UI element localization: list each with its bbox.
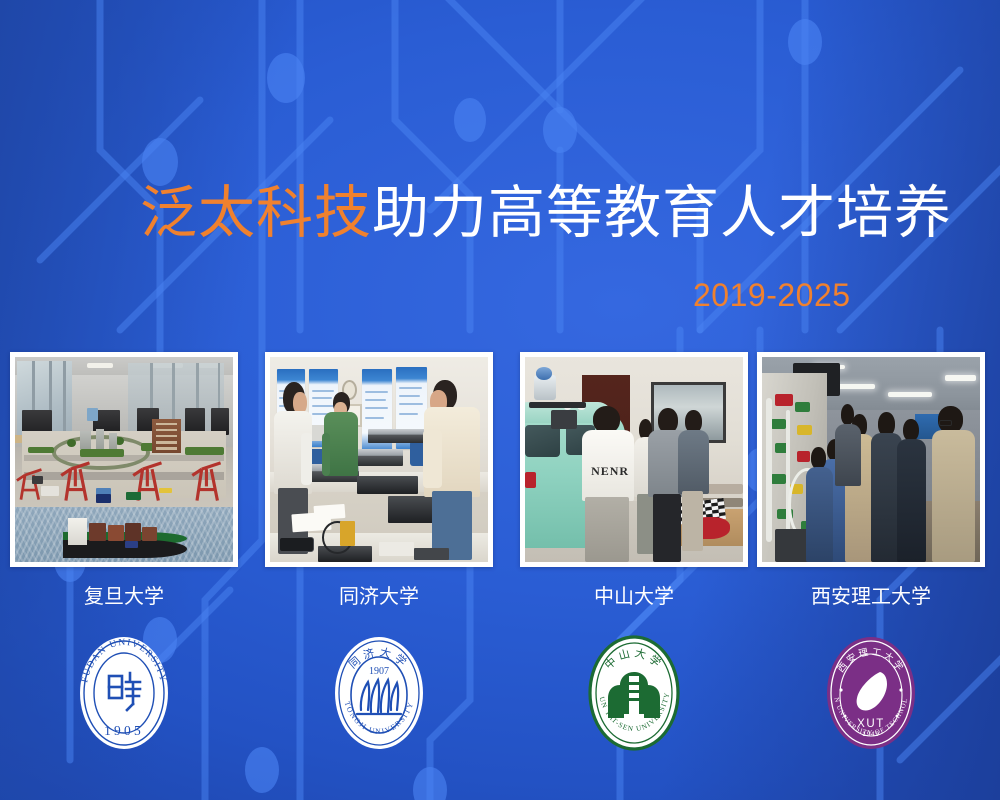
university-photo-row: NENR	[0, 352, 1000, 567]
photo-fudan-city-port-model-lab	[15, 357, 233, 562]
brand-name: 泛太科技	[140, 181, 372, 245]
year-range-label: 2019-2025	[693, 278, 851, 312]
xian-university-of-technology-logo: 西安理工大学 XI'AN UNIVERSITY OF TECHNOLOGY XU…	[819, 632, 923, 754]
logo-slot-tongji: 同济大学 TONGJI UNIVERSITY 1907	[265, 632, 493, 754]
logo-slot-sysu: 中山大学 SUN YAT-SEN UNIVERSITY	[520, 632, 748, 754]
logo-slot-xut: 西安理工大学 XI'AN UNIVERSITY OF TECHNOLOGY XU…	[757, 632, 985, 754]
logo-slot-fudan: FUDAN UNIVERSITY 1905	[10, 632, 238, 754]
tongji-founding-year: 1907	[369, 666, 389, 677]
sun-yat-sen-university-logo: 中山大学 SUN YAT-SEN UNIVERSITY	[582, 632, 686, 754]
photo-tongji-students-lab-benches	[270, 357, 488, 562]
caption-xut: 西安理工大学	[757, 585, 985, 609]
tongji-university-logo: 同济大学 TONGJI UNIVERSITY 1907	[327, 632, 431, 754]
photo-card-tongji[interactable]	[265, 352, 493, 567]
xut-founding-year: 1949	[862, 731, 879, 738]
fudan-university-logo: FUDAN UNIVERSITY 1905	[72, 632, 176, 754]
fudan-founding-year: 1905	[104, 723, 144, 738]
photo-card-xut[interactable]	[757, 352, 985, 567]
xut-abbreviation: XUT	[857, 718, 885, 730]
photo-xut-students-industrial-rig	[762, 357, 980, 562]
caption-tongji: 同济大学	[265, 585, 493, 609]
caption-fudan: 复旦大学	[10, 585, 238, 609]
photo-sysu-autonomous-vehicle: NENR	[525, 357, 743, 562]
photo-card-fudan[interactable]	[10, 352, 238, 567]
title-subject: 助力高等教育人才培养	[372, 181, 952, 245]
photo-card-sysu[interactable]: NENR	[520, 352, 748, 567]
page-title: 泛太科技助力高等教育人才培养	[140, 181, 952, 245]
caption-sysu: 中山大学	[520, 585, 748, 609]
